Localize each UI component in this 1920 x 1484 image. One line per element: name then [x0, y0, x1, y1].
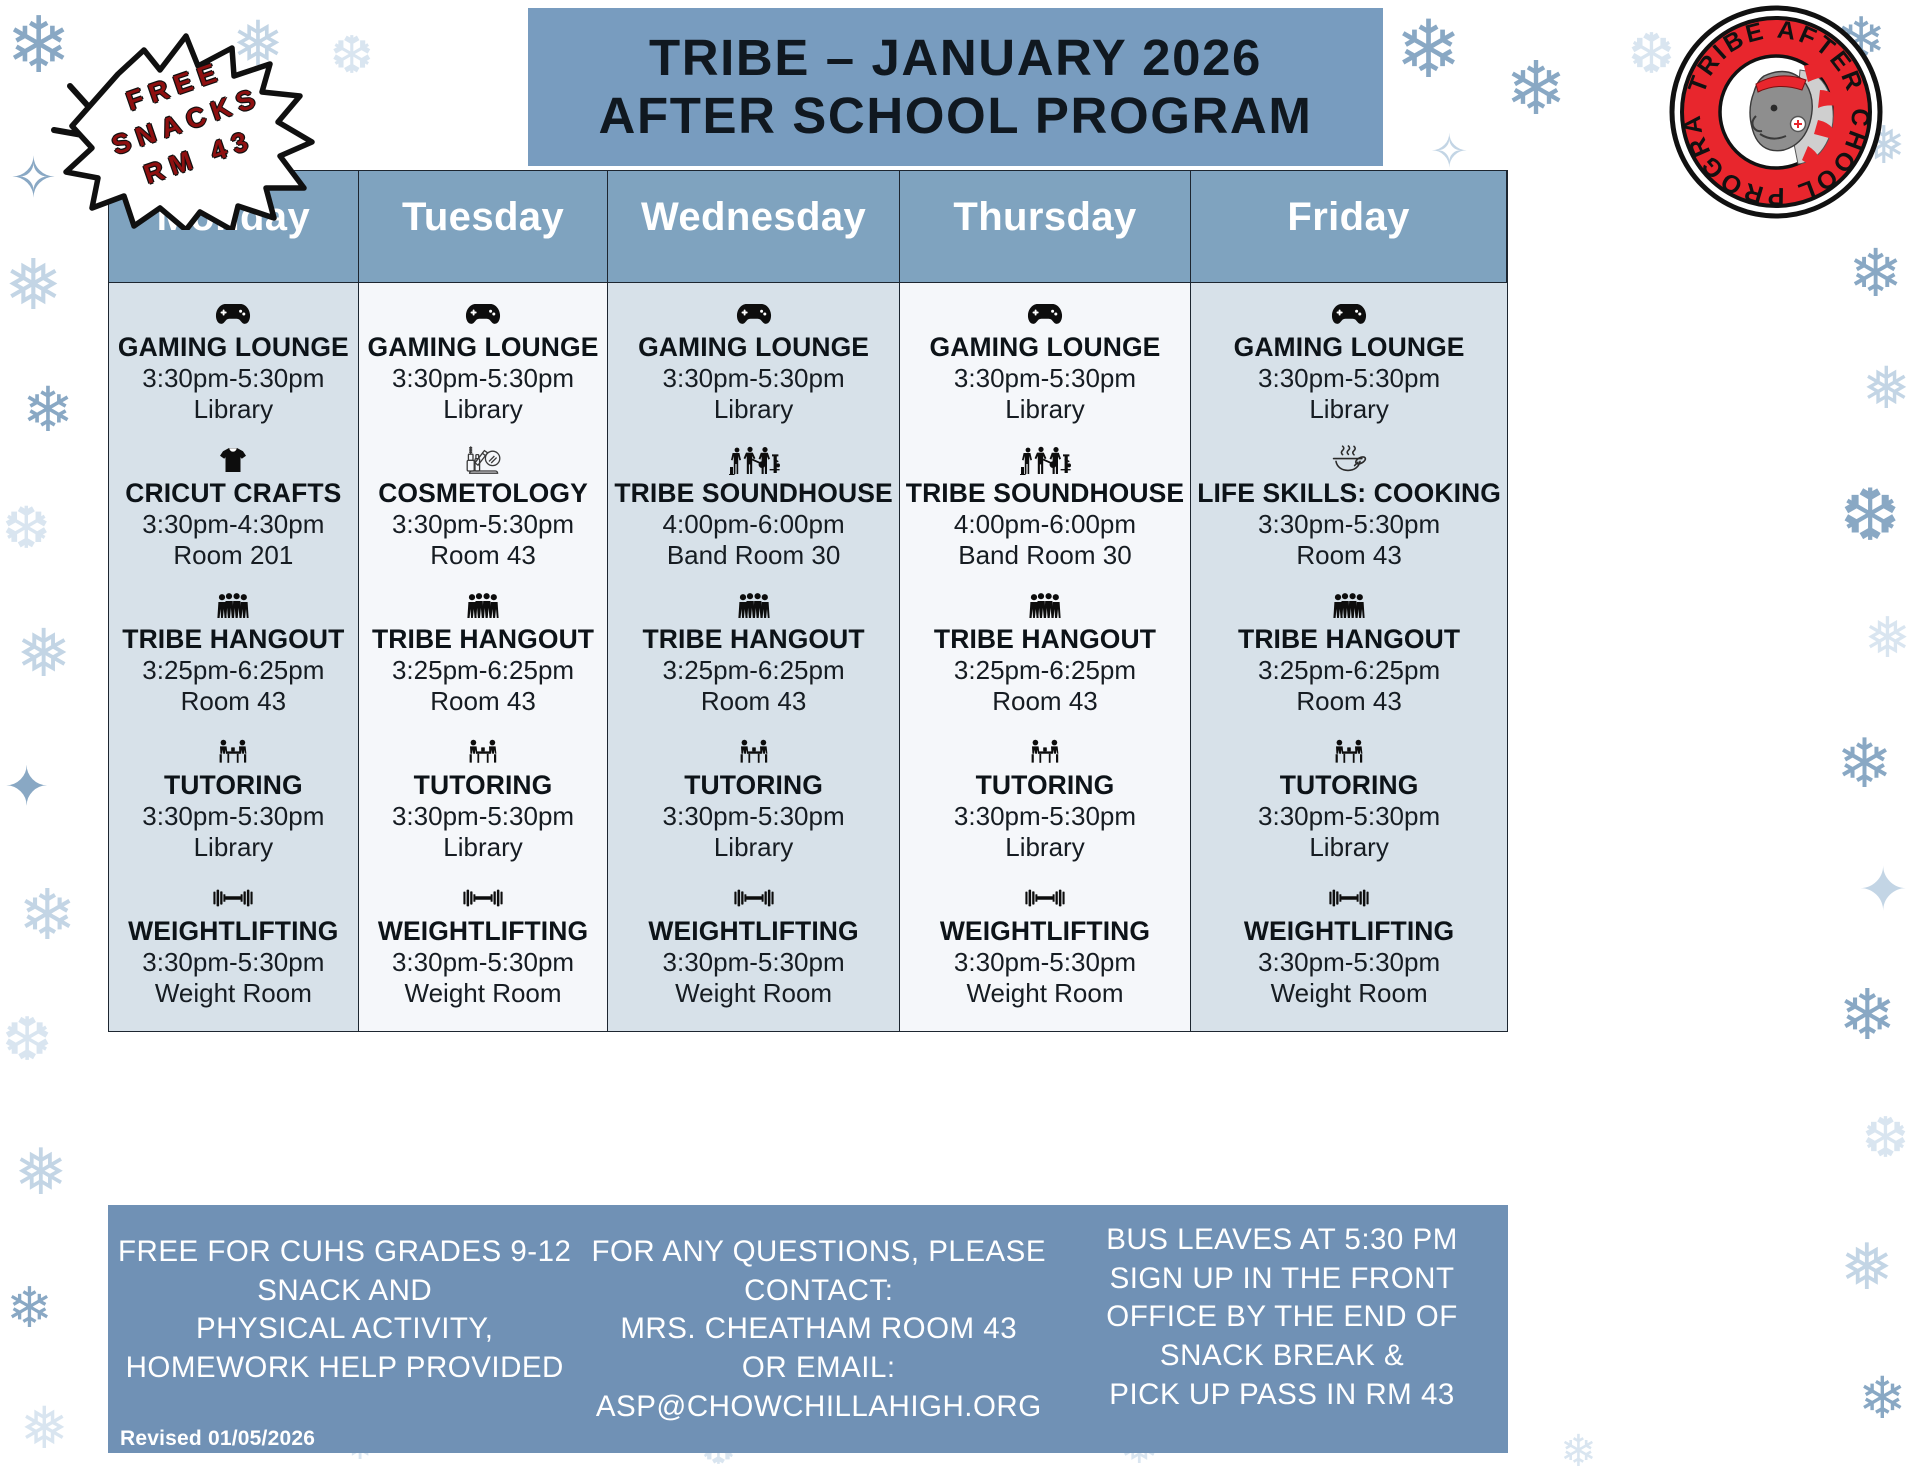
- activity-card: TUTORING3:30pm-5:30pmLibrary: [1197, 735, 1501, 863]
- snowflake-icon: ✦: [4, 760, 49, 814]
- activity-card: WEIGHTLIFTING3:30pm-5:30pmWeight Room: [614, 881, 892, 1009]
- activity-time: 3:30pm-5:30pm: [365, 509, 602, 540]
- snowflake-icon: ❆: [1862, 1110, 1909, 1166]
- footer-line: FREE FOR CUHS GRADES 9-12: [118, 1233, 571, 1272]
- activity-card: TUTORING3:30pm-5:30pmLibrary: [365, 735, 602, 863]
- activity-time: 3:30pm-5:30pm: [906, 801, 1184, 832]
- snowflake-icon: ✧: [1430, 128, 1469, 174]
- activity-time: 4:00pm-6:00pm: [906, 509, 1184, 540]
- gamepad-icon: [115, 297, 352, 331]
- activity-name: GAMING LOUNGE: [115, 333, 352, 363]
- people-group-icon: [365, 589, 602, 623]
- activity-location: Room 43: [365, 540, 602, 571]
- activity-time: 3:25pm-6:25pm: [614, 655, 892, 686]
- snowflake-icon: ❄: [1858, 1370, 1907, 1428]
- footer-line: SIGN UP IN THE FRONT: [1110, 1260, 1455, 1299]
- footer-line: FOR ANY QUESTIONS, PLEASE: [591, 1233, 1046, 1272]
- tutoring-desk-icon: [614, 735, 892, 769]
- activity-time: 3:30pm-5:30pm: [614, 947, 892, 978]
- people-group-icon: [1197, 589, 1501, 623]
- tshirt-icon: [115, 443, 352, 477]
- activity-card: WEIGHTLIFTING3:30pm-5:30pmWeight Room: [906, 881, 1184, 1009]
- activity-name: LIFE SKILLS: COOKING: [1197, 479, 1501, 509]
- activity-name: GAMING LOUNGE: [614, 333, 892, 363]
- page-title-line-1: TRIBE – JANUARY 2026: [649, 29, 1262, 87]
- snowflake-icon: ❄: [18, 880, 77, 950]
- activity-time: 4:00pm-6:00pm: [614, 509, 892, 540]
- activity-time: 3:30pm-5:30pm: [1197, 509, 1501, 540]
- footer-info-bar: FREE FOR CUHS GRADES 9-12SNACK ANDPHYSIC…: [108, 1205, 1508, 1453]
- activity-name: TUTORING: [906, 771, 1184, 801]
- activity-name: TRIBE HANGOUT: [614, 625, 892, 655]
- activity-location: Band Room 30: [906, 540, 1184, 571]
- activity-card: TUTORING3:30pm-5:30pmLibrary: [906, 735, 1184, 863]
- tutoring-desk-icon: [1197, 735, 1501, 769]
- activity-time: 3:30pm-5:30pm: [906, 947, 1184, 978]
- activity-name: GAMING LOUNGE: [1197, 333, 1501, 363]
- activity-name: TRIBE HANGOUT: [906, 625, 1184, 655]
- day-header-wednesday: Wednesday: [608, 171, 899, 283]
- activity-location: Weight Room: [614, 978, 892, 1009]
- activity-location: Library: [115, 832, 352, 863]
- footer-line: PICK UP PASS IN RM 43: [1109, 1376, 1455, 1415]
- activity-card: WEIGHTLIFTING3:30pm-5:30pmWeight Room: [365, 881, 602, 1009]
- activity-name: TUTORING: [1197, 771, 1501, 801]
- activity-name: COSMETOLOGY: [365, 479, 602, 509]
- activity-location: Library: [365, 394, 602, 425]
- activity-location: Room 43: [1197, 540, 1501, 571]
- activity-name: WEIGHTLIFTING: [115, 917, 352, 947]
- activity-card: COSMETOLOGY3:30pm-5:30pmRoom 43: [365, 443, 602, 571]
- activity-card: LIFE SKILLS: COOKING3:30pm-5:30pmRoom 43: [1197, 443, 1501, 571]
- footer-line: HOMEWORK HELP PROVIDED: [126, 1349, 564, 1388]
- day-header-label: Friday: [1287, 195, 1409, 240]
- dumbbell-icon: [365, 881, 602, 915]
- snowflake-icon: ❄: [6, 1280, 53, 1336]
- tutoring-desk-icon: [365, 735, 602, 769]
- day-column-tuesday: GAMING LOUNGE3:30pm-5:30pmLibraryCOSMETO…: [359, 283, 609, 1031]
- activity-location: Room 43: [1197, 686, 1501, 717]
- activity-location: Room 43: [115, 686, 352, 717]
- snowflake-icon: ✦: [1858, 860, 1908, 920]
- activity-card: TRIBE HANGOUT3:25pm-6:25pmRoom 43: [614, 589, 892, 717]
- activity-name: GAMING LOUNGE: [365, 333, 602, 363]
- activity-time: 3:30pm-5:30pm: [614, 801, 892, 832]
- day-header-thursday: Thursday: [900, 171, 1191, 283]
- activity-name: TUTORING: [614, 771, 892, 801]
- activity-time: 3:30pm-5:30pm: [115, 801, 352, 832]
- activity-time: 3:30pm-5:30pm: [365, 363, 602, 394]
- day-column-wednesday: GAMING LOUNGE3:30pm-5:30pmLibraryTRIBE S…: [608, 283, 899, 1031]
- activity-name: WEIGHTLIFTING: [614, 917, 892, 947]
- gamepad-icon: [906, 297, 1184, 331]
- activity-location: Weight Room: [365, 978, 602, 1009]
- footer-line: MRS. CHEATHAM ROOM 43: [620, 1310, 1017, 1349]
- activity-location: Library: [1197, 832, 1501, 863]
- activity-name: TRIBE HANGOUT: [1197, 625, 1501, 655]
- snowflake-icon: ❅: [20, 1400, 69, 1458]
- activity-location: Room 43: [906, 686, 1184, 717]
- weekly-schedule-grid: Monday Tuesday Wednesday Thursday Friday…: [108, 170, 1508, 1032]
- activity-location: Library: [115, 394, 352, 425]
- tribe-after-school-logo: TRIBE AFTER SCHOOL PROGRAM: [1668, 4, 1884, 220]
- activity-name: WEIGHTLIFTING: [365, 917, 602, 947]
- activity-location: Library: [614, 394, 892, 425]
- snowflake-icon: ❆: [1840, 480, 1900, 552]
- activity-name: WEIGHTLIFTING: [906, 917, 1184, 947]
- footer-line: BUS LEAVES AT 5:30 PM: [1106, 1221, 1458, 1260]
- activity-location: Room 201: [115, 540, 352, 571]
- header-banner: TRIBE – JANUARY 2026 AFTER SCHOOL PROGRA…: [528, 8, 1383, 166]
- footer-column-eligibility: FREE FOR CUHS GRADES 9-12SNACK ANDPHYSIC…: [108, 1205, 581, 1453]
- activity-time: 3:25pm-6:25pm: [1197, 655, 1501, 686]
- activity-card: GAMING LOUNGE3:30pm-5:30pmLibrary: [906, 297, 1184, 425]
- day-column-thursday: GAMING LOUNGE3:30pm-5:30pmLibraryTRIBE S…: [900, 283, 1191, 1031]
- activity-location: Room 43: [365, 686, 602, 717]
- footer-line: SNACK AND: [257, 1272, 432, 1311]
- activity-card: GAMING LOUNGE3:30pm-5:30pmLibrary: [1197, 297, 1501, 425]
- footer-line: PHYSICAL ACTIVITY,: [196, 1310, 494, 1349]
- people-group-icon: [614, 589, 892, 623]
- activity-card: GAMING LOUNGE3:30pm-5:30pmLibrary: [115, 297, 352, 425]
- cooking-pot-icon: [1197, 443, 1501, 477]
- revision-date: Revised 01/05/2026: [120, 1427, 315, 1451]
- activity-time: 3:30pm-5:30pm: [1197, 947, 1501, 978]
- activity-card: TRIBE HANGOUT3:25pm-6:25pmRoom 43: [906, 589, 1184, 717]
- activity-card: TRIBE HANGOUT3:25pm-6:25pmRoom 43: [115, 589, 352, 717]
- band-icon: [614, 443, 892, 477]
- activity-name: CRICUT CRAFTS: [115, 479, 352, 509]
- dumbbell-icon: [1197, 881, 1501, 915]
- activity-time: 3:30pm-5:30pm: [1197, 801, 1501, 832]
- activity-name: TUTORING: [365, 771, 602, 801]
- snowflake-icon: ❆: [2, 500, 51, 558]
- snowflake-icon: ❄: [22, 380, 74, 442]
- snowflake-icon: ❅: [14, 1140, 68, 1204]
- activity-card: GAMING LOUNGE3:30pm-5:30pmLibrary: [365, 297, 602, 425]
- snowflake-icon: ❄: [1836, 730, 1893, 798]
- activity-card: TRIBE SOUNDHOUSE4:00pm-6:00pmBand Room 3…: [614, 443, 892, 571]
- activity-name: WEIGHTLIFTING: [1197, 917, 1501, 947]
- snowflake-icon: ❅: [4, 250, 63, 320]
- snowflake-icon: ❄: [1848, 240, 1903, 306]
- activity-location: Band Room 30: [614, 540, 892, 571]
- snowflake-icon: ❅: [16, 620, 71, 686]
- day-header-label: Tuesday: [402, 195, 564, 240]
- activity-name: TUTORING: [115, 771, 352, 801]
- activity-card: TUTORING3:30pm-5:30pmLibrary: [115, 735, 352, 863]
- snowflake-icon: ❄: [1395, 10, 1462, 90]
- activity-card: TRIBE HANGOUT3:25pm-6:25pmRoom 43: [1197, 589, 1501, 717]
- activity-card: TRIBE HANGOUT3:25pm-6:25pmRoom 43: [365, 589, 602, 717]
- activity-time: 3:30pm-5:30pm: [365, 801, 602, 832]
- activity-location: Room 43: [614, 686, 892, 717]
- snowflake-icon: ❄: [1838, 980, 1897, 1050]
- day-header-friday: Friday: [1191, 171, 1507, 283]
- day-header-label: Thursday: [953, 195, 1136, 240]
- activity-time: 3:30pm-5:30pm: [115, 363, 352, 394]
- activity-location: Library: [906, 394, 1184, 425]
- activity-location: Library: [1197, 394, 1501, 425]
- activity-name: TRIBE HANGOUT: [115, 625, 352, 655]
- footer-line: OR EMAIL:: [742, 1349, 896, 1388]
- activity-card: GAMING LOUNGE3:30pm-5:30pmLibrary: [614, 297, 892, 425]
- page-title-line-2: AFTER SCHOOL PROGRAM: [599, 87, 1313, 145]
- activity-name: TRIBE SOUNDHOUSE: [906, 479, 1184, 509]
- day-column-friday: GAMING LOUNGE3:30pm-5:30pmLibraryLIFE SK…: [1191, 283, 1507, 1031]
- dumbbell-icon: [614, 881, 892, 915]
- activity-card: TRIBE SOUNDHOUSE4:00pm-6:00pmBand Room 3…: [906, 443, 1184, 571]
- footer-column-contact: FOR ANY QUESTIONS, PLEASECONTACT:MRS. CH…: [581, 1205, 1056, 1453]
- activity-time: 3:30pm-5:30pm: [1197, 363, 1501, 394]
- footer-line: SNACK BREAK &: [1160, 1337, 1404, 1376]
- activity-location: Weight Room: [906, 978, 1184, 1009]
- activity-location: Library: [906, 832, 1184, 863]
- day-column-monday: GAMING LOUNGE3:30pm-5:30pmLibraryCRICUT …: [109, 283, 359, 1031]
- activity-time: 3:30pm-5:30pm: [906, 363, 1184, 394]
- snowflake-icon: ❄: [1560, 1430, 1597, 1474]
- day-header-tuesday: Tuesday: [359, 171, 609, 283]
- activity-card: TUTORING3:30pm-5:30pmLibrary: [614, 735, 892, 863]
- activity-location: Weight Room: [1197, 978, 1501, 1009]
- activity-location: Weight Room: [115, 978, 352, 1009]
- activity-name: TRIBE SOUNDHOUSE: [614, 479, 892, 509]
- activity-time: 3:30pm-5:30pm: [365, 947, 602, 978]
- activity-card: CRICUT CRAFTS3:30pm-4:30pmRoom 201: [115, 443, 352, 571]
- band-icon: [906, 443, 1184, 477]
- logo-icon: TRIBE AFTER SCHOOL PROGRAM: [1668, 4, 1884, 220]
- snowflake-icon: ❄: [1505, 52, 1567, 126]
- activity-location: Library: [365, 832, 602, 863]
- snowflake-icon: ❆: [330, 30, 374, 82]
- snowflake-icon: ❅: [1840, 1235, 1894, 1299]
- poster-canvas: ❄ ❅ ❆ ❅ ✦ ❄ ❄ ✧ ❆ ❄ ❅ ✧ ❅ ❄ ❆ ❅ ✦ ❄ ❆ ❅ …: [0, 0, 1920, 1484]
- cosmetics-icon: [365, 443, 602, 477]
- people-group-icon: [906, 589, 1184, 623]
- activity-time: 3:25pm-6:25pm: [115, 655, 352, 686]
- activity-card: WEIGHTLIFTING3:30pm-5:30pmWeight Room: [115, 881, 352, 1009]
- tutoring-desk-icon: [115, 735, 352, 769]
- footer-line: CONTACT:: [744, 1272, 893, 1311]
- activity-time: 3:25pm-6:25pm: [365, 655, 602, 686]
- free-snacks-burst: FREE SNACKS RM 43: [48, 30, 318, 230]
- footer-column-transport: BUS LEAVES AT 5:30 PMSIGN UP IN THE FRON…: [1056, 1205, 1508, 1453]
- activity-location: Library: [614, 832, 892, 863]
- snowflake-icon: ❆: [2, 1010, 52, 1070]
- activity-name: GAMING LOUNGE: [906, 333, 1184, 363]
- activity-name: TRIBE HANGOUT: [365, 625, 602, 655]
- gamepad-icon: [614, 297, 892, 331]
- activity-time: 3:30pm-5:30pm: [115, 947, 352, 978]
- gamepad-icon: [365, 297, 602, 331]
- activity-time: 3:30pm-4:30pm: [115, 509, 352, 540]
- dumbbell-icon: [115, 881, 352, 915]
- day-header-label: Wednesday: [641, 195, 866, 240]
- dumbbell-icon: [906, 881, 1184, 915]
- activity-time: 3:30pm-5:30pm: [614, 363, 892, 394]
- activity-card: WEIGHTLIFTING3:30pm-5:30pmWeight Room: [1197, 881, 1501, 1009]
- footer-line: OFFICE BY THE END OF: [1106, 1298, 1457, 1337]
- people-group-icon: [115, 589, 352, 623]
- footer-line: ASP@CHOWCHILLAHIGH.ORG: [596, 1388, 1042, 1427]
- snowflake-icon: ❅: [1862, 360, 1911, 418]
- gamepad-icon: [1197, 297, 1501, 331]
- snowflake-icon: ❅: [1864, 610, 1911, 666]
- tutoring-desk-icon: [906, 735, 1184, 769]
- activity-time: 3:25pm-6:25pm: [906, 655, 1184, 686]
